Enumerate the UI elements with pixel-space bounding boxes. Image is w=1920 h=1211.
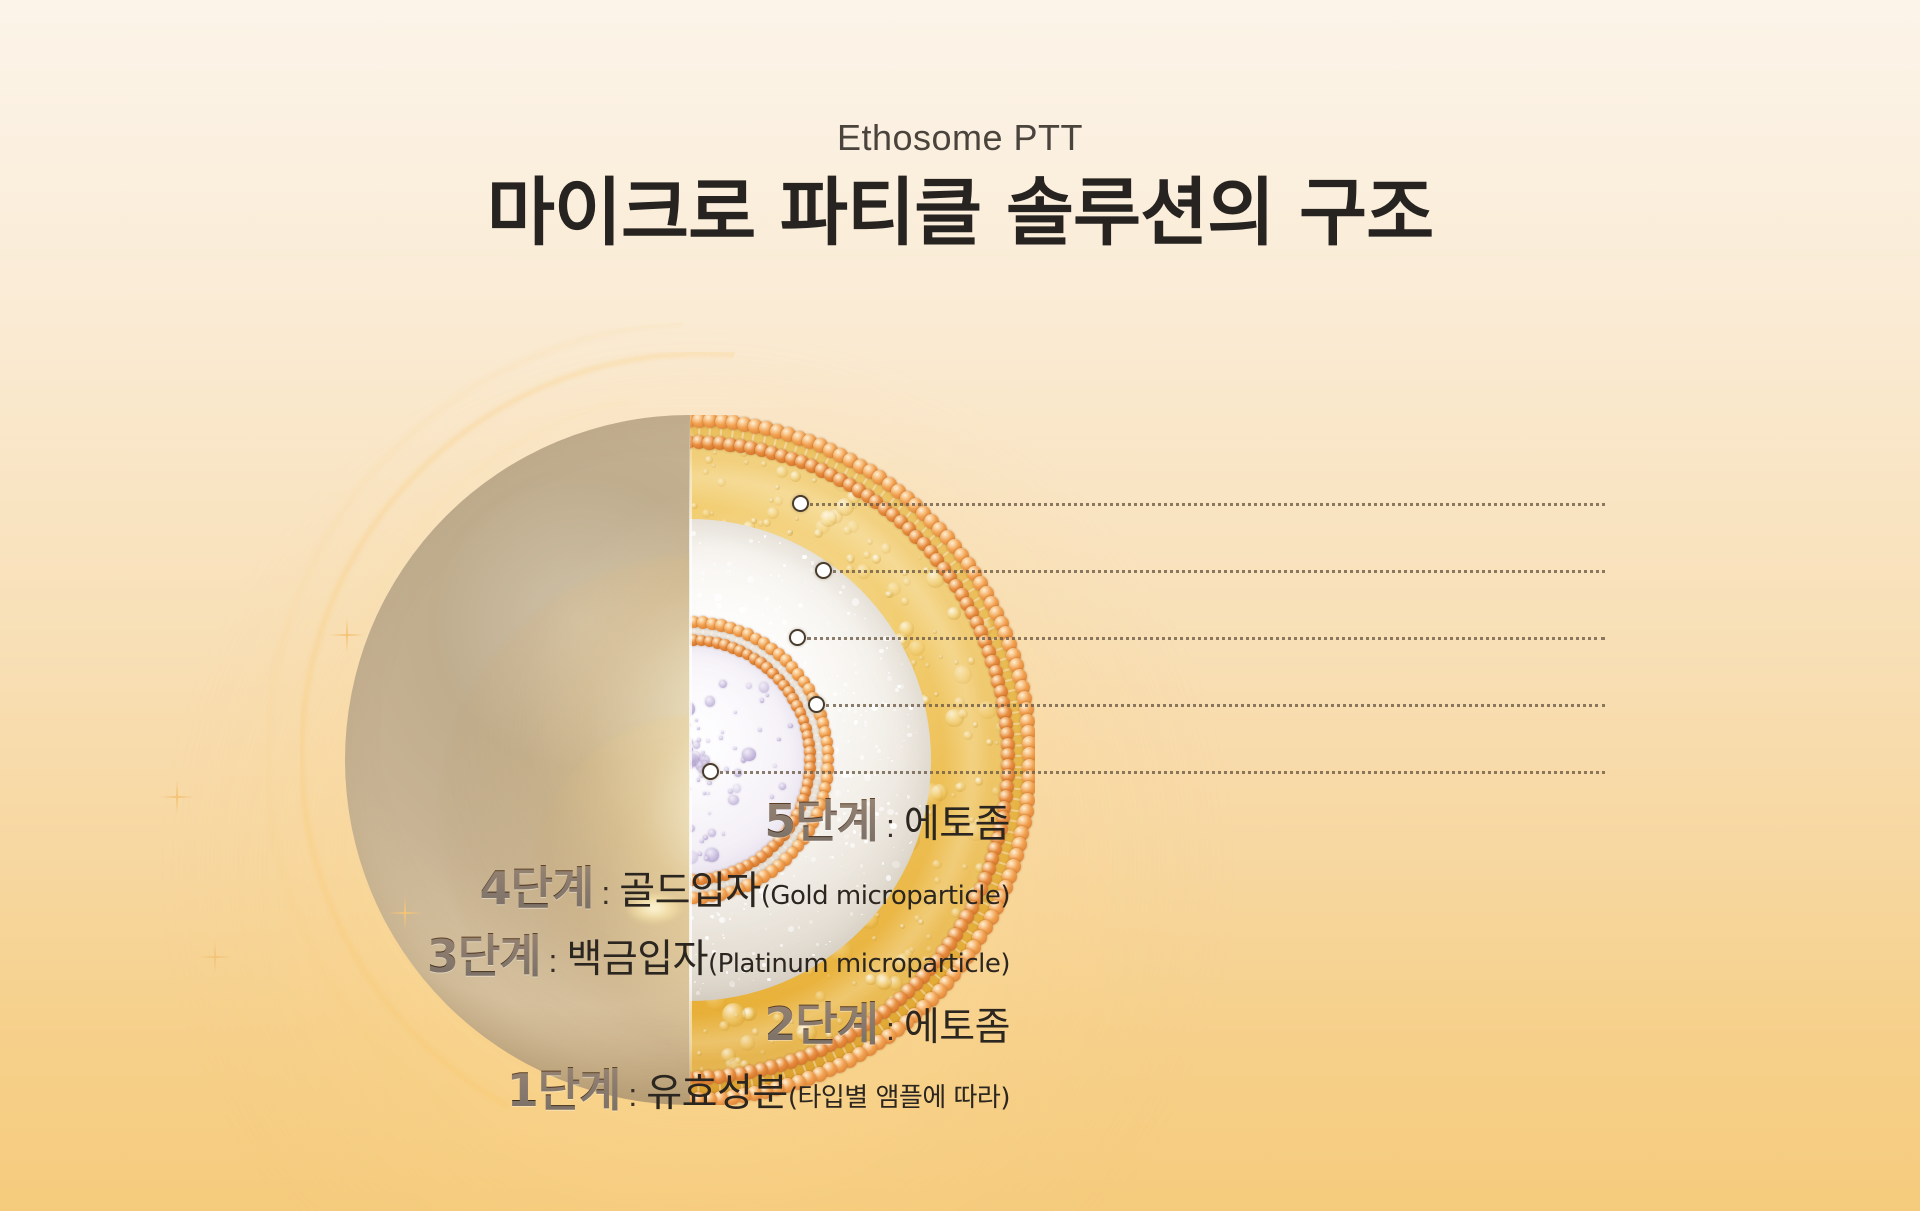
leader-marker-5 (792, 495, 809, 512)
layer-label-1: 1단계:유효성분(타입별 앰플에 따라) (507, 1054, 1010, 1120)
infographic-canvas: Ethosome PTT 마이크로 파티클 솔루션의 구조 (0, 0, 1920, 1211)
leader-line-4 (833, 570, 1605, 573)
leader-marker-2 (808, 696, 825, 713)
leader-line-5 (810, 503, 1605, 506)
step-number: 1단계 (507, 1054, 621, 1120)
sparkle-starlet (160, 780, 194, 814)
layer-name: 에토좀 (904, 996, 1010, 1052)
step-number: 4단계 (480, 852, 594, 918)
layer-name: 에토좀 (904, 793, 1010, 849)
subtitle: Ethosome PTT (0, 118, 1920, 158)
layer-name-annotation: (Gold microparticle) (761, 881, 1010, 911)
layer-label-4: 4단계:골드입자(Gold microparticle) (480, 852, 1010, 918)
label-separator: : (601, 875, 610, 912)
label-separator: : (549, 943, 558, 980)
label-separator: : (886, 1011, 895, 1048)
layer-label-3: 3단계:백금입자(Platinum microparticle) (427, 920, 1010, 986)
step-number: 2단계 (764, 988, 878, 1054)
label-separator: : (628, 1077, 637, 1114)
step-number: 5단계 (764, 785, 878, 851)
layer-label-5: 5단계:에토좀 (764, 785, 1010, 851)
layer-name: 골드입자 (619, 860, 761, 916)
layer-name: 유효성분 (646, 1062, 788, 1118)
layer-name: 백금입자 (566, 928, 708, 984)
layer-name-annotation: (타입별 앰플에 따라) (788, 1077, 1010, 1114)
step-number: 3단계 (427, 920, 541, 986)
sparkle-starlet (198, 940, 232, 974)
layer-label-2: 2단계:에토좀 (764, 988, 1010, 1054)
label-separator: : (886, 808, 895, 845)
leader-line-2 (826, 704, 1605, 707)
leader-marker-4 (815, 562, 832, 579)
leader-line-1 (720, 771, 1605, 774)
cutaway-edge-line (689, 415, 692, 1105)
leader-marker-1 (702, 763, 719, 780)
leader-line-3 (807, 637, 1605, 640)
layer-name-annotation: (Platinum microparticle) (708, 949, 1010, 979)
page-title: 마이크로 파티클 솔루션의 구조 (0, 172, 1920, 255)
header: Ethosome PTT 마이크로 파티클 솔루션의 구조 (0, 0, 1920, 254)
leader-marker-3 (789, 629, 806, 646)
